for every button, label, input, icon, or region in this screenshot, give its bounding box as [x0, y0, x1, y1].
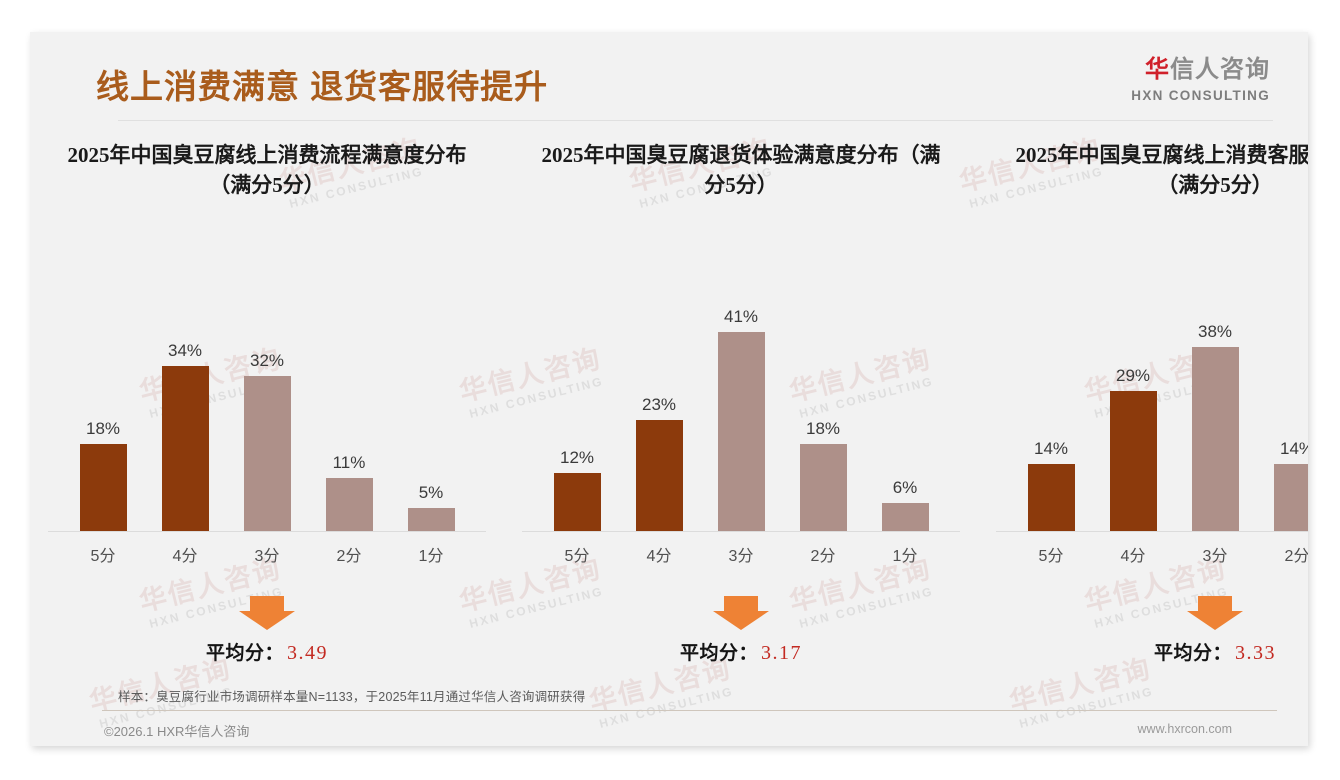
x-axis-tick-label: 3分 [226, 542, 308, 566]
average-score-block: 平均分：3.49 [38, 596, 496, 665]
bar-item[interactable]: 29% [1092, 242, 1174, 532]
bar-value-label: 38% [1198, 323, 1232, 340]
chart-panel-3: 2025年中国臭豆腐线上消费客服满意度分布（满分5分）14%29%38%14%5… [978, 140, 1308, 665]
chart-title: 2025年中国臭豆腐退货体验满意度分布（满分5分） [512, 140, 970, 202]
chart-plot-area: 14%29%38%14%5% [986, 242, 1308, 532]
header-divider [118, 120, 1273, 121]
chart-plot-area: 12%23%41%18%6% [512, 242, 970, 532]
slide-panel: 华信人咨询HXN CONSULTING华信人咨询HXN CONSULTING华信… [30, 32, 1308, 746]
logo-rest-chars: 信人咨询 [1170, 56, 1270, 83]
chart-plot-area: 18%34%32%11%5% [38, 242, 496, 532]
logo-accent-char: 华 [1145, 56, 1170, 83]
arrow-head [713, 611, 769, 630]
x-axis-line [996, 531, 1308, 532]
bar[interactable] [80, 444, 127, 532]
arrow-shaft [250, 596, 284, 611]
x-axis-tick-label: 5分 [62, 542, 144, 566]
bar-group: 12%23%41%18%6% [512, 242, 970, 532]
average-score-value: 3.49 [287, 642, 328, 664]
x-axis-tick-label: 5分 [536, 542, 618, 566]
website-url: www.hxrcon.com [1138, 722, 1232, 736]
page-title: 线上消费满意 退货客服待提升 [96, 60, 548, 108]
bar-item[interactable]: 23% [618, 242, 700, 532]
average-score-value: 3.33 [1235, 642, 1276, 664]
bar-value-label: 12% [560, 449, 594, 466]
bar-value-label: 18% [86, 420, 120, 437]
logo-english-text: HXN CONSULTING [1131, 89, 1270, 103]
x-axis-line [522, 531, 960, 532]
bar-item[interactable]: 14% [1010, 242, 1092, 532]
x-axis-tick-label: 2分 [782, 542, 864, 566]
bar-item[interactable]: 41% [700, 242, 782, 532]
bar[interactable] [1110, 391, 1157, 532]
bar[interactable] [1028, 464, 1075, 532]
bar-item[interactable]: 6% [864, 242, 946, 532]
bar[interactable] [162, 366, 209, 532]
bar-item[interactable]: 38% [1174, 242, 1256, 532]
copyright-text: ©2026.1 HXR华信人咨询 [104, 721, 249, 740]
logo-chinese-text: 华信人咨询 [1131, 58, 1270, 82]
bar-value-label: 34% [168, 342, 202, 359]
average-score-text: 平均分：3.17 [512, 638, 970, 665]
bar[interactable] [408, 508, 455, 532]
bar[interactable] [718, 332, 765, 532]
bar-item[interactable]: 18% [782, 242, 864, 532]
bar[interactable] [1274, 464, 1309, 532]
average-score-block: 平均分：3.33 [986, 596, 1308, 665]
bar-item[interactable]: 18% [62, 242, 144, 532]
bar-item[interactable]: 12% [536, 242, 618, 532]
brand-logo: 华信人咨询 HXN CONSULTING [1131, 58, 1270, 103]
x-axis-tick-label: 3分 [1174, 542, 1256, 566]
x-axis-tick-label: 3分 [700, 542, 782, 566]
average-score-text: 平均分：3.33 [986, 638, 1308, 665]
x-axis-line [48, 531, 486, 532]
chart-title: 2025年中国臭豆腐线上消费客服满意度分布（满分5分） [986, 140, 1308, 202]
arrow-head [239, 611, 295, 630]
x-axis-tick-label: 4分 [144, 542, 226, 566]
bar[interactable] [882, 503, 929, 532]
x-axis-labels: 5分4分3分2分1分 [512, 542, 970, 566]
average-score-block: 平均分：3.17 [512, 596, 970, 665]
bar[interactable] [244, 376, 291, 532]
average-score-text: 平均分：3.49 [38, 638, 496, 665]
bar-value-label: 11% [333, 454, 366, 471]
bar-value-label: 32% [250, 352, 284, 369]
x-axis-tick-label: 5分 [1010, 542, 1092, 566]
arrow-shaft [724, 596, 758, 611]
down-arrow-icon [1187, 596, 1243, 630]
x-axis-tick-label: 4分 [618, 542, 700, 566]
slide-footer: ©2026.1 HXR华信人咨询 www.hxrcon.com [30, 718, 1308, 746]
bar-item[interactable]: 5% [390, 242, 472, 532]
x-axis-tick-label: 2分 [1256, 542, 1308, 566]
bar-value-label: 41% [724, 308, 758, 325]
slide-header: 线上消费满意 退货客服待提升 华信人咨询 HXN CONSULTING [30, 32, 1308, 124]
bar-group: 18%34%32%11%5% [38, 242, 496, 532]
arrow-head [1187, 611, 1243, 630]
average-score-label: 平均分： [206, 643, 284, 664]
down-arrow-icon [713, 596, 769, 630]
charts-row: 2025年中国臭豆腐线上消费流程满意度分布（满分5分）18%34%32%11%5… [30, 140, 1308, 665]
x-axis-tick-label: 2分 [308, 542, 390, 566]
bar[interactable] [636, 420, 683, 532]
average-score-label: 平均分： [1154, 643, 1232, 664]
source-note: 样本：臭豆腐行业市场调研样本量N=1133，于2025年11月通过华信人咨询调研… [118, 686, 585, 705]
bar-value-label: 14% [1034, 440, 1068, 457]
arrow-shaft [1198, 596, 1232, 611]
average-score-value: 3.17 [761, 642, 802, 664]
bar-item[interactable]: 14% [1256, 242, 1308, 532]
bar-group: 14%29%38%14%5% [986, 242, 1308, 532]
bar-item[interactable]: 32% [226, 242, 308, 532]
bar-item[interactable]: 34% [144, 242, 226, 532]
x-axis-tick-label: 1分 [864, 542, 946, 566]
bar-value-label: 5% [419, 484, 444, 501]
bar-value-label: 14% [1280, 440, 1308, 457]
chart-title: 2025年中国臭豆腐线上消费流程满意度分布（满分5分） [38, 140, 496, 202]
footer-divider [102, 710, 1277, 711]
bar[interactable] [326, 478, 373, 532]
bar[interactable] [1192, 347, 1239, 532]
chart-panel-2: 2025年中国臭豆腐退货体验满意度分布（满分5分）12%23%41%18%6%5… [504, 140, 978, 665]
down-arrow-icon [239, 596, 295, 630]
bar-value-label: 23% [642, 396, 676, 413]
bar[interactable] [554, 473, 601, 532]
x-axis-labels: 5分4分3分2分1分 [38, 542, 496, 566]
average-score-label: 平均分： [680, 643, 758, 664]
bar-value-label: 29% [1116, 367, 1150, 384]
chart-panel-1: 2025年中国臭豆腐线上消费流程满意度分布（满分5分）18%34%32%11%5… [30, 140, 504, 665]
bar-value-label: 18% [806, 420, 840, 437]
bar[interactable] [800, 444, 847, 532]
bar-item[interactable]: 11% [308, 242, 390, 532]
x-axis-tick-label: 1分 [390, 542, 472, 566]
bar-value-label: 6% [893, 479, 918, 496]
x-axis-labels: 5分4分3分2分1分 [986, 542, 1308, 566]
x-axis-tick-label: 4分 [1092, 542, 1174, 566]
